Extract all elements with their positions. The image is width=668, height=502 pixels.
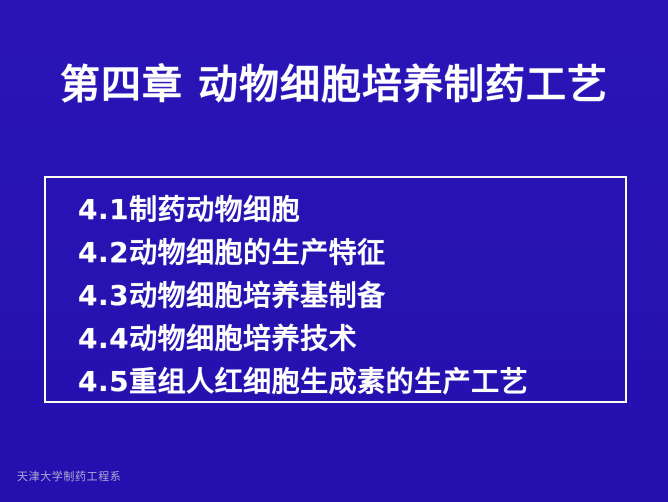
- list-item: 4.5重组人红细胞生成素的生产工艺: [78, 360, 619, 403]
- slide-footer: 天津大学制药工程系: [17, 468, 121, 484]
- presentation-slide: 第四章 动物细胞培养制药工艺 4.1制药动物细胞 4.2动物细胞的生产特征 4.…: [0, 0, 668, 502]
- list-item-label: 制药动物细胞: [129, 193, 300, 226]
- list-item-number: 4.5: [78, 365, 129, 398]
- list-item-number: 4.3: [78, 279, 129, 312]
- list-item-label: 动物细胞培养技术: [129, 322, 357, 355]
- list-item-label: 动物细胞培养基制备: [129, 279, 386, 312]
- list-item-label: 动物细胞的生产特征: [129, 236, 386, 269]
- list-item: 4.4动物细胞培养技术: [78, 317, 619, 360]
- agenda-list: 4.1制药动物细胞 4.2动物细胞的生产特征 4.3动物细胞培养基制备 4.4动…: [78, 188, 619, 403]
- page-title: 第四章 动物细胞培养制药工艺: [0, 62, 668, 108]
- list-item: 4.1制药动物细胞: [78, 188, 619, 231]
- agenda-box: 4.1制药动物细胞 4.2动物细胞的生产特征 4.3动物细胞培养基制备 4.4动…: [44, 176, 627, 403]
- list-item: 4.2动物细胞的生产特征: [78, 231, 619, 274]
- list-item-number: 4.4: [78, 322, 129, 355]
- list-item-label: 重组人红细胞生成素的生产工艺: [129, 365, 528, 398]
- list-item-number: 4.1: [78, 193, 129, 226]
- list-item-number: 4.2: [78, 236, 129, 269]
- list-item: 4.3动物细胞培养基制备: [78, 274, 619, 317]
